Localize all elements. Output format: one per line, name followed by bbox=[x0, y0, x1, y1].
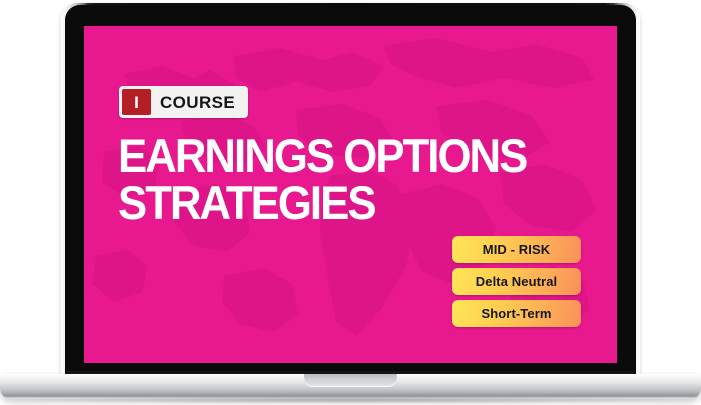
slide-title: EARNINGS OPTIONS STRATEGIES bbox=[118, 133, 564, 226]
tag-short-term: Short-Term bbox=[452, 300, 581, 327]
tag-delta-neutral: Delta Neutral bbox=[452, 268, 581, 295]
slide-content: I COURSE EARNINGS OPTIONS STRATEGIES MID… bbox=[84, 26, 617, 363]
screenshot-stage: I COURSE EARNINGS OPTIONS STRATEGIES MID… bbox=[0, 0, 701, 405]
laptop-screen: I COURSE EARNINGS OPTIONS STRATEGIES MID… bbox=[84, 26, 617, 363]
tag-mid-risk: MID - RISK bbox=[452, 236, 581, 263]
course-badge-label: COURSE bbox=[151, 94, 245, 111]
laptop-base-notch bbox=[304, 374, 397, 387]
laptop-ground-shadow bbox=[20, 396, 681, 404]
course-badge: I COURSE bbox=[119, 86, 248, 118]
tag-list: MID - RISK Delta Neutral Short-Term bbox=[452, 236, 581, 327]
laptop-device: I COURSE EARNINGS OPTIONS STRATEGIES MID… bbox=[0, 0, 701, 405]
course-badge-mark-icon: I bbox=[122, 89, 151, 115]
